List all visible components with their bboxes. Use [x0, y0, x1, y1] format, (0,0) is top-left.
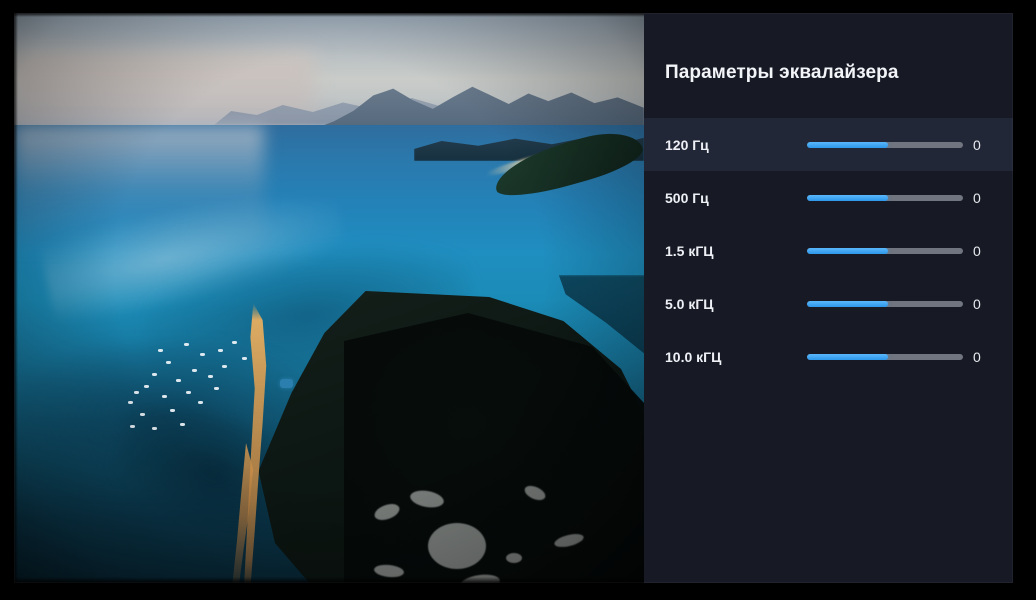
equalizer-band-label: 500 Гц: [665, 190, 709, 206]
equalizer-band-row[interactable]: 1.5 кГЦ0: [644, 224, 1013, 277]
equalizer-band-value: 0: [973, 243, 999, 259]
equalizer-band-label: 5.0 кГЦ: [665, 296, 714, 312]
equalizer-band-row[interactable]: 500 Гц0: [644, 171, 1013, 224]
video-edge-top: [14, 13, 644, 17]
equalizer-band-slider-fill: [807, 354, 888, 360]
video-edge-bottom: [14, 577, 644, 583]
video-playback-surface[interactable]: [14, 13, 644, 583]
equalizer-band-slider-fill: [807, 195, 888, 201]
video-edge-left: [14, 13, 18, 583]
equalizer-band-slider-fill: [807, 301, 888, 307]
golf-course-bunkers: [374, 483, 604, 583]
moored-boats: [122, 339, 282, 449]
tv-screen: Параметры эквалайзера 120 Гц0500 Гц01.5 …: [0, 0, 1036, 600]
equalizer-band-slider[interactable]: [807, 142, 963, 148]
equalizer-band-label: 10.0 кГЦ: [665, 349, 721, 365]
equalizer-band-value: 0: [973, 137, 999, 153]
equalizer-band-label: 1.5 кГЦ: [665, 243, 714, 259]
equalizer-band-slider-fill: [807, 142, 888, 148]
equalizer-band-row[interactable]: 10.0 кГЦ0: [644, 330, 1013, 383]
equalizer-band-slider[interactable]: [807, 195, 963, 201]
equalizer-band-row[interactable]: 120 Гц0: [644, 118, 1013, 171]
equalizer-settings-panel: Параметры эквалайзера 120 Гц0500 Гц01.5 …: [644, 13, 1013, 583]
equalizer-band-value: 0: [973, 190, 999, 206]
equalizer-band-row[interactable]: 5.0 кГЦ0: [644, 277, 1013, 330]
equalizer-band-slider-fill: [807, 248, 888, 254]
equalizer-band-slider[interactable]: [807, 354, 963, 360]
equalizer-band-slider[interactable]: [807, 248, 963, 254]
equalizer-band-label: 120 Гц: [665, 137, 709, 153]
equalizer-band-slider[interactable]: [807, 301, 963, 307]
panel-title: Параметры эквалайзера: [665, 62, 899, 84]
equalizer-band-value: 0: [973, 296, 999, 312]
equalizer-band-value: 0: [973, 349, 999, 365]
player-content-area: Параметры эквалайзера 120 Гц0500 Гц01.5 …: [14, 13, 1013, 583]
